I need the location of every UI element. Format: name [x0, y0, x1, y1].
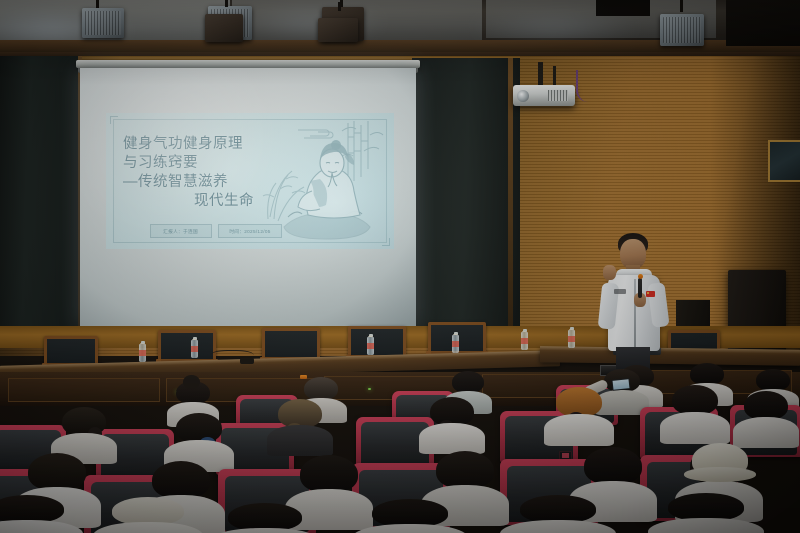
panel-chair-2[interactable] [158, 330, 216, 362]
white-cap [692, 443, 748, 477]
attendee-b2 [176, 413, 222, 465]
attendee-d5 [520, 495, 596, 533]
attendee-d2 [112, 497, 184, 533]
slide-title-line-3: —传统智慧滋养 [123, 173, 299, 192]
jacket-badge [614, 289, 626, 294]
slide-title-line-4: 现代生命 [123, 192, 299, 211]
attendee-c3 [300, 455, 358, 521]
china-flag-patch [646, 291, 655, 297]
attendee-b5 [556, 387, 602, 439]
projection-screen: 健身气功健身原理 与习练窍要 —传统智慧滋养 现代生命 汇报人：于连国 时间：2… [80, 68, 416, 329]
date-chip-label: 时间：2025/12/05 [229, 228, 270, 235]
attendee-b3 [278, 399, 322, 449]
attendee-d4 [372, 499, 448, 533]
slide-title: 健身气功健身原理 与习练窍要 —传统智慧滋养 现代生命 [123, 135, 299, 210]
slide-title-line-1: 健身气功健身原理 [123, 135, 299, 154]
handheld-microphone[interactable] [638, 278, 642, 298]
upper-wall-vent [768, 140, 800, 182]
panel-chair-3[interactable] [262, 328, 320, 360]
attendee-d6 [668, 493, 744, 533]
attendee-d3 [228, 503, 302, 533]
attendee-b6 [672, 385, 718, 437]
slide: 健身气功健身原理 与习练窍要 —传统智慧滋养 现代生命 汇报人：于连国 时间：2… [106, 113, 394, 249]
projector-lens [517, 90, 529, 102]
slide-title-line-2: 与习练窍要 [123, 154, 299, 173]
panel-chair-4[interactable] [348, 326, 406, 358]
date-chip: 时间：2025/12/05 [218, 224, 282, 238]
presenter-chip: 汇报人：于连国 [150, 224, 212, 238]
attendee-phone[interactable] [611, 378, 630, 391]
presenter-chip-label: 汇报人：于连国 [164, 228, 199, 235]
attendee-d1 [0, 495, 64, 533]
attendee-b7 [744, 391, 788, 441]
center-acoustic-panel [412, 58, 520, 326]
presenter-fist [603, 265, 616, 280]
panel-chair-1[interactable] [44, 336, 98, 366]
attendee-b4 [430, 397, 474, 447]
audience [0, 363, 800, 533]
attendee-b1 [62, 407, 106, 457]
lecture-hall-photo: 健身气功健身原理 与习练窍要 —传统智慧滋养 现代生命 汇报人：于连国 时间：2… [0, 0, 800, 533]
presenter [596, 233, 670, 363]
screen-case [76, 60, 420, 68]
ceiling-equipment-box [726, 0, 800, 46]
left-curtain [0, 56, 80, 338]
